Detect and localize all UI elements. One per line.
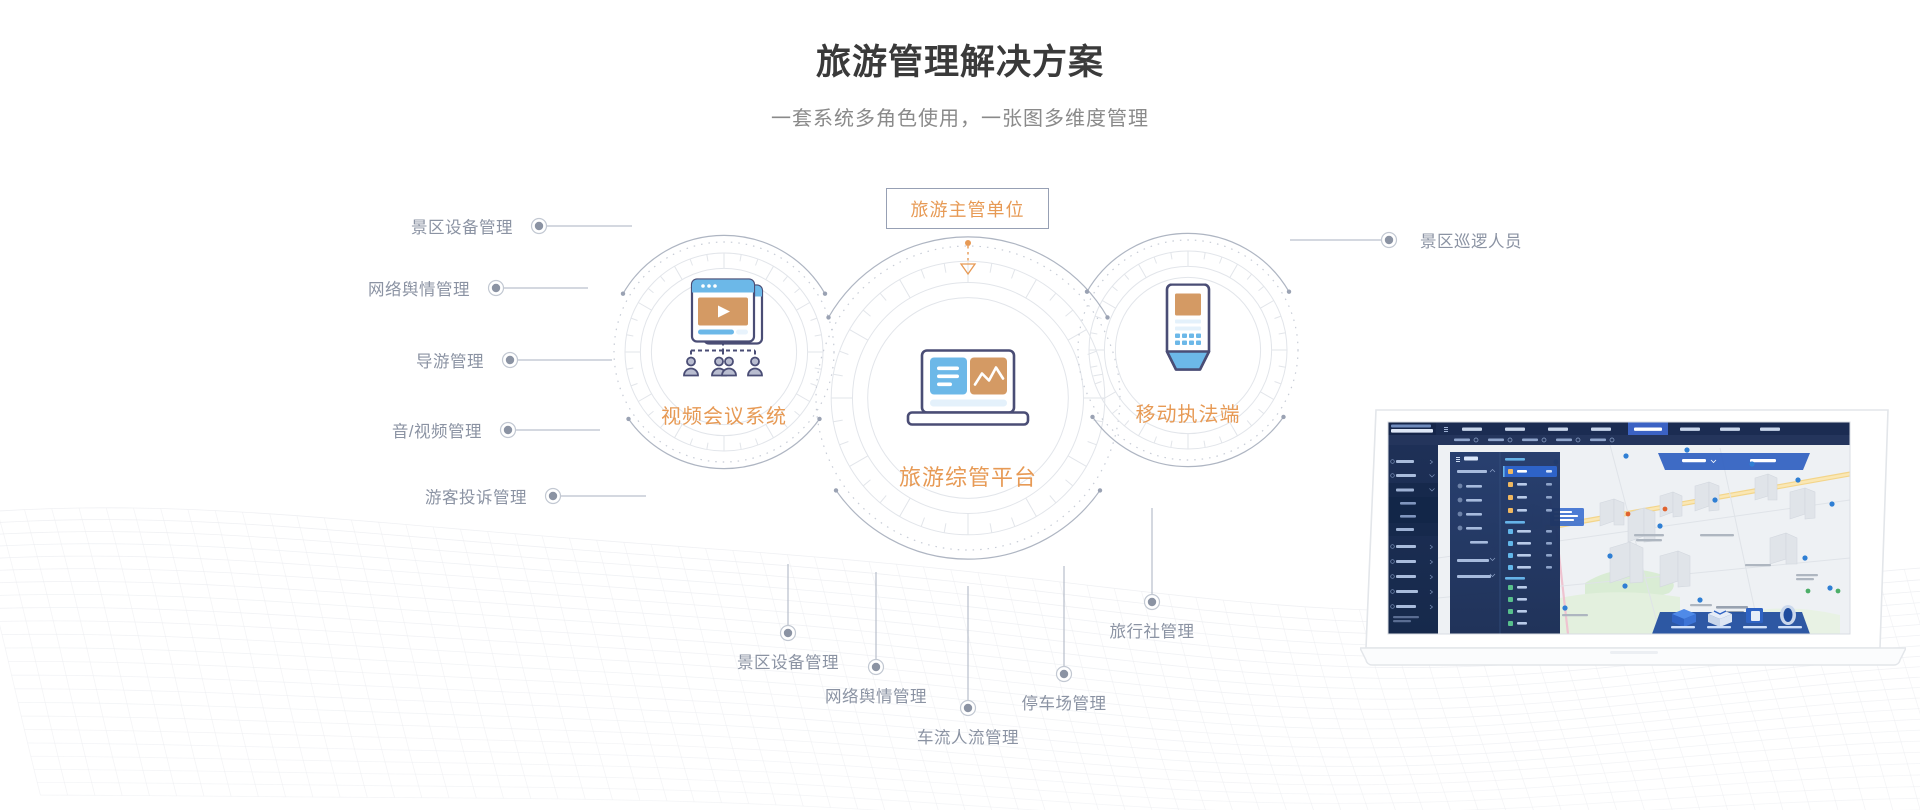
node-label-mobile-enforcement: 移动执法端 — [1136, 398, 1241, 427]
spoke-dot-bottom-2[interactable] — [961, 701, 976, 716]
corner-bottom-right — [1035, 215, 1049, 229]
edge-top — [900, 188, 1035, 189]
spoke-dot-bottom-0[interactable] — [781, 626, 796, 641]
tourism-dashboard-screenshot[interactable] — [1360, 408, 1906, 678]
spoke-label-left-1: 网络舆情管理 — [368, 276, 470, 300]
spoke-dot-bottom-4[interactable] — [1145, 595, 1160, 610]
spoke-dot-bottom-1[interactable] — [869, 660, 884, 675]
spoke-dot-left-4[interactable] — [546, 489, 561, 504]
corner-top-right — [1035, 188, 1049, 202]
edge-bottom — [900, 228, 1035, 229]
spoke-label-bottom-3: 停车场管理 — [1022, 690, 1107, 714]
spoke-dot-left-2[interactable] — [503, 353, 518, 368]
authority-box[interactable]: 旅游主管单位 — [886, 188, 1049, 229]
authority-label: 旅游主管单位 — [911, 196, 1025, 222]
handheld-device-icon — [1153, 284, 1223, 389]
spoke-dot-right-0[interactable] — [1382, 233, 1397, 248]
spoke-label-left-4: 游客投诉管理 — [425, 484, 527, 508]
page-header: 旅游管理解决方案 一套系统多角色使用，一张图多维度管理 — [0, 0, 1920, 131]
video-window-icon — [670, 276, 778, 385]
spoke-dot-left-1[interactable] — [489, 281, 504, 296]
spoke-label-left-3: 音/视频管理 — [392, 418, 482, 442]
page-subtitle: 一套系统多角色使用，一张图多维度管理 — [0, 102, 1920, 131]
spoke-dot-bottom-3[interactable] — [1057, 667, 1072, 682]
spoke-label-left-0: 景区设备管理 — [411, 214, 513, 238]
spoke-label-left-2: 导游管理 — [416, 348, 484, 372]
spoke-label-bottom-1: 网络舆情管理 — [825, 683, 927, 707]
spoke-label-bottom-0: 景区设备管理 — [737, 649, 839, 673]
page-title: 旅游管理解决方案 — [0, 42, 1920, 84]
spoke-dot-left-3[interactable] — [501, 423, 516, 438]
laptop-dashboard-icon — [904, 347, 1032, 444]
edge-left — [886, 202, 887, 215]
corner-bottom-left — [886, 215, 900, 229]
spoke-dot-left-0[interactable] — [532, 219, 547, 234]
corner-top-left — [886, 188, 900, 202]
spoke-label-bottom-4: 旅行社管理 — [1110, 618, 1195, 642]
node-label-video-conference: 视频会议系统 — [661, 400, 787, 429]
edge-right — [1048, 202, 1049, 215]
spoke-label-right-0: 景区巡逻人员 — [1420, 228, 1522, 252]
node-label-tourism-platform: 旅游综管平台 — [899, 460, 1037, 492]
spoke-label-bottom-2: 车流人流管理 — [917, 724, 1019, 748]
